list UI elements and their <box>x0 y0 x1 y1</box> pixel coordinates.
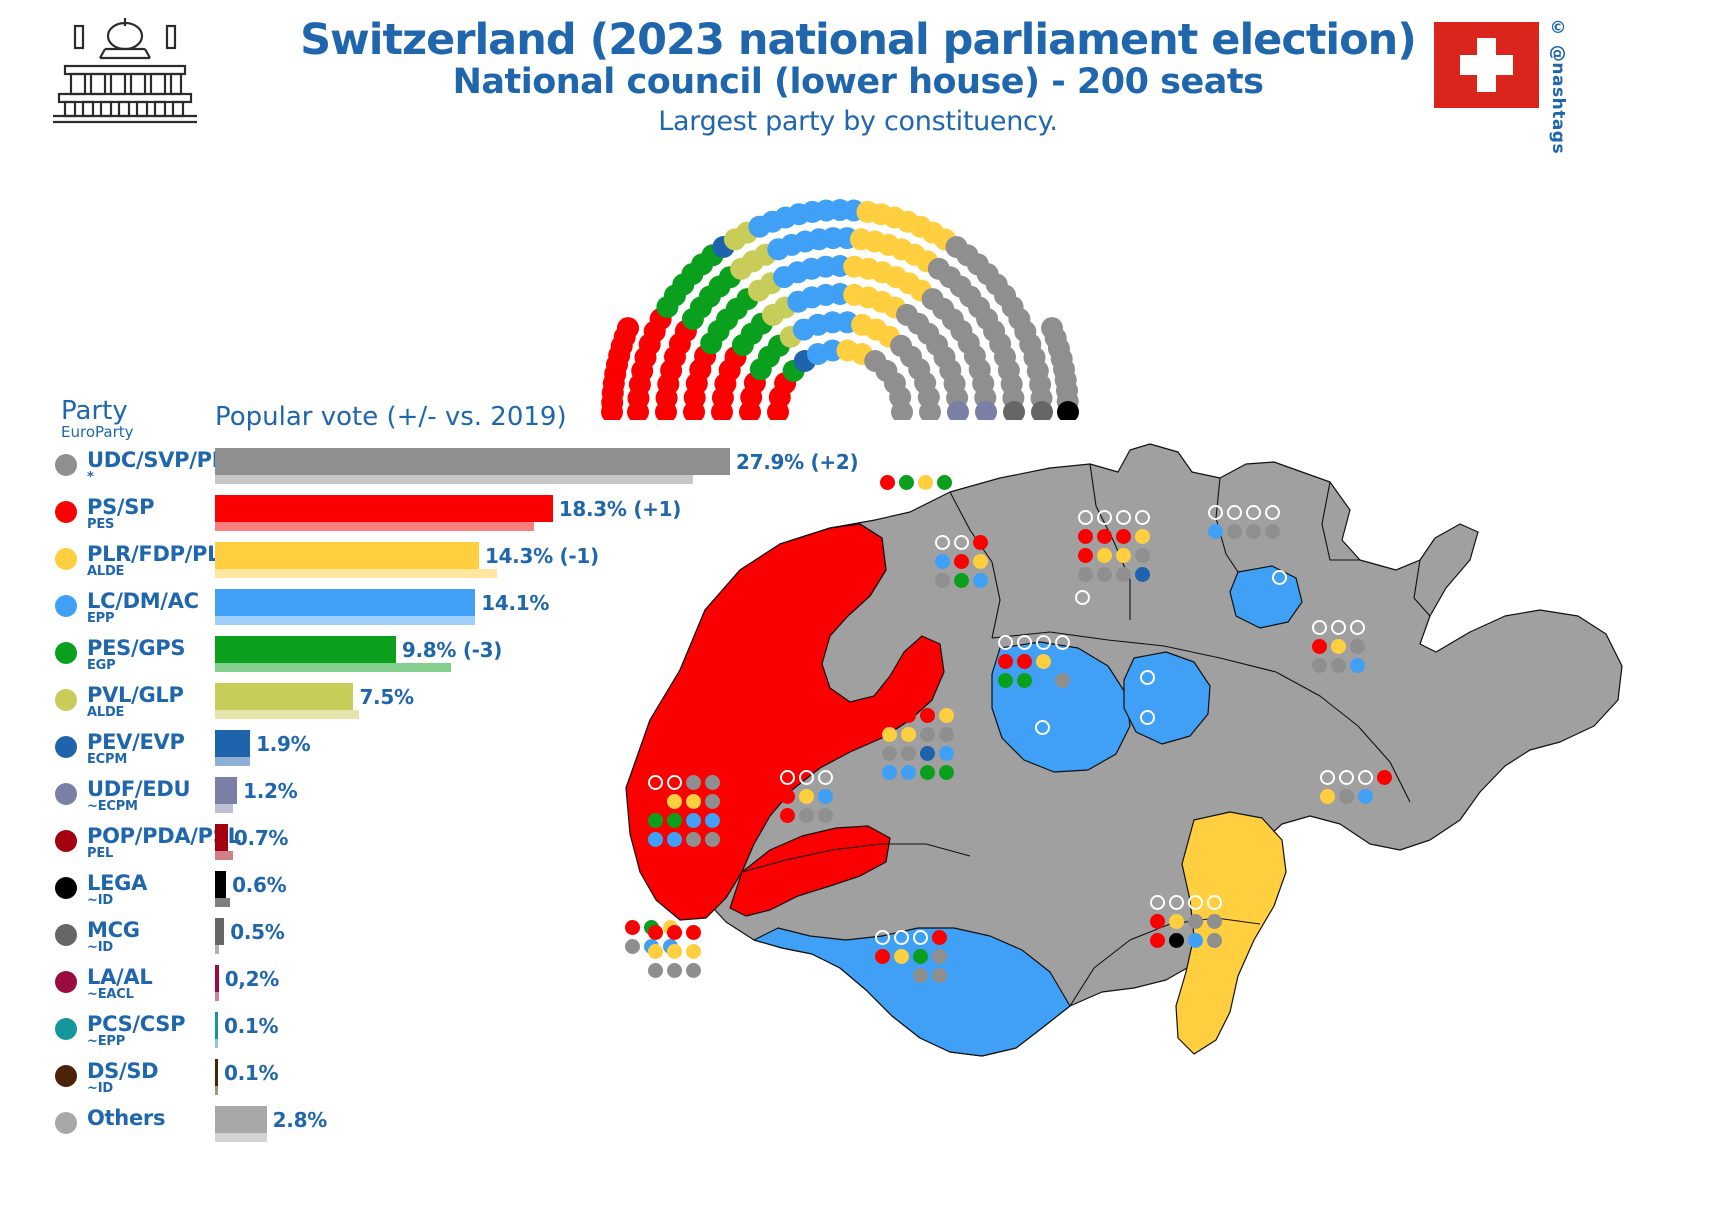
map-seat-dot <box>913 949 928 964</box>
vote-bar-previous <box>215 1133 267 1142</box>
map-seat-dot <box>1320 789 1335 804</box>
vote-bar-previous <box>215 992 219 1001</box>
vote-bar-current <box>215 495 553 522</box>
map-seat-dot <box>1227 505 1242 520</box>
party-name: PS/SP <box>87 495 154 519</box>
map-seat-dot <box>1350 639 1365 654</box>
map-seat-dot <box>648 832 663 847</box>
europarty-name: EGP <box>87 658 115 673</box>
map-seat-dot <box>939 727 954 742</box>
europarty-name: ECPM <box>87 752 127 767</box>
party-color-swatch <box>55 971 77 993</box>
map-seat-dot <box>1150 895 1165 910</box>
map-seat-dot <box>1017 673 1032 688</box>
map-seat-dot <box>799 789 814 804</box>
map-seat-dot <box>818 789 833 804</box>
map-seat-dot <box>1017 654 1032 669</box>
map-seat-dot <box>932 930 947 945</box>
map-seat-dot <box>1208 505 1223 520</box>
map-seat-dot <box>998 654 1013 669</box>
map-seat-dot <box>935 554 950 569</box>
map-seat-dot <box>648 963 663 978</box>
map-seat-dot <box>939 746 954 761</box>
vote-value-label: 1.2% <box>243 779 297 803</box>
map-seat-dot <box>705 775 720 790</box>
vote-bar-current <box>215 683 353 710</box>
map-seat-dot <box>935 535 950 550</box>
page-caption: Largest party by constituency. <box>0 106 1716 137</box>
map-seat-dot <box>1078 510 1093 525</box>
party-color-swatch <box>55 830 77 852</box>
map-seat-dot <box>686 832 701 847</box>
map-seat-dot <box>648 775 663 790</box>
vote-bar-previous <box>215 1086 218 1095</box>
vote-bar-previous <box>215 898 230 907</box>
map-seat-dot <box>894 930 909 945</box>
map-seat-dot <box>1312 658 1327 673</box>
map-seat-dot <box>913 930 928 945</box>
map-seat-dot <box>1331 658 1346 673</box>
map-seat-dot <box>1036 673 1051 688</box>
map-seat-dot <box>1116 529 1131 544</box>
vote-bar-previous <box>215 804 233 813</box>
map-seat-dot <box>686 963 701 978</box>
vote-bar-current <box>215 1106 267 1133</box>
map-seat-dot <box>1358 770 1373 785</box>
map-seat-dot <box>1078 567 1093 582</box>
map-seat-dot <box>1078 529 1093 544</box>
map-seat-dot <box>667 813 682 828</box>
map-seat-dot <box>954 573 969 588</box>
party-color-swatch <box>55 548 77 570</box>
vote-bar-current <box>215 777 237 804</box>
map-seat-dot <box>625 920 640 935</box>
map-seat-dot <box>875 949 890 964</box>
vote-value-label: 0,2% <box>225 967 279 991</box>
vote-bar-current <box>215 1059 218 1086</box>
map-seat-dot <box>1055 673 1070 688</box>
map-seat-dot <box>1097 510 1112 525</box>
switzerland-map <box>530 420 1710 1160</box>
map-seat-dot <box>1135 567 1150 582</box>
vote-value-label: 1.9% <box>256 732 310 756</box>
party-color-swatch <box>55 454 77 476</box>
map-seat-dot <box>937 475 952 490</box>
party-color-swatch <box>55 877 77 899</box>
map-seat-dot <box>954 554 969 569</box>
vote-value-label: 7.5% <box>359 685 413 709</box>
map-seat-dot <box>625 939 640 954</box>
party-color-swatch <box>55 783 77 805</box>
party-name: MCG <box>87 918 140 942</box>
map-seat-dot <box>1312 620 1327 635</box>
europarty-name: EPP <box>87 611 114 626</box>
map-seat-dot <box>1358 789 1373 804</box>
europarty-name: ~ID <box>87 1081 113 1096</box>
europarty-name: PEL <box>87 846 113 861</box>
vote-bar-previous <box>215 616 475 625</box>
vote-bar-previous <box>215 945 219 954</box>
map-seat-dot <box>1350 658 1365 673</box>
map-seat-dot <box>932 949 947 964</box>
europarty-name: ~EPP <box>87 1034 125 1049</box>
map-seat-dot <box>882 727 897 742</box>
map-seat-dot <box>1377 770 1392 785</box>
map-seat-dot <box>1188 914 1203 929</box>
map-seat-dot <box>894 968 909 983</box>
map-seat-dot <box>973 554 988 569</box>
party-color-swatch <box>55 642 77 664</box>
map-seat-dot <box>875 930 890 945</box>
map-seat-dot <box>1135 510 1150 525</box>
map-seat-dot <box>1035 720 1050 735</box>
map-seat-dot <box>667 832 682 847</box>
map-seat-dot <box>705 794 720 809</box>
map-seat-dot <box>1017 635 1032 650</box>
europarty-name: ALDE <box>87 705 124 720</box>
map-seat-dot <box>918 475 933 490</box>
map-seat-dot <box>875 968 890 983</box>
map-seat-dot <box>780 770 795 785</box>
map-seat-dot <box>1075 590 1090 605</box>
party-name: LA/AL <box>87 965 152 989</box>
map-seat-dot <box>901 727 916 742</box>
map-seat-dot <box>1265 524 1280 539</box>
map-seat-dot <box>1116 548 1131 563</box>
party-name: LEGA <box>87 871 147 895</box>
map-seat-dot <box>913 968 928 983</box>
europarty-name: PES <box>87 517 114 532</box>
vote-bar-current <box>215 918 224 945</box>
europarty-name: ALDE <box>87 564 124 579</box>
map-seat-dot <box>1036 635 1051 650</box>
map-seat-dot <box>901 708 916 723</box>
map-seat-dot <box>1331 639 1346 654</box>
europarty-column-header: EuroParty <box>61 423 134 441</box>
map-seat-dot <box>667 794 682 809</box>
vote-column-header: Popular vote (+/- vs. 2019) <box>215 402 567 432</box>
vote-value-label: 2.8% <box>273 1108 327 1132</box>
party-color-swatch <box>55 736 77 758</box>
map-seat-dot <box>880 475 895 490</box>
map-seat-dot <box>901 746 916 761</box>
credit-text: © @nashtags <box>1548 18 1568 154</box>
party-name: PEV/EVP <box>87 730 185 754</box>
map-seat-dot <box>780 789 795 804</box>
vote-value-label: 9.8% (-3) <box>402 638 502 662</box>
map-seat-dot <box>818 808 833 823</box>
map-seat-dot <box>1097 529 1112 544</box>
map-seat-dot <box>1188 933 1203 948</box>
map-seat-dot <box>1140 710 1155 725</box>
vote-bar-previous <box>215 522 534 531</box>
party-name: LC/DM/AC <box>87 589 199 613</box>
map-seat-dot <box>1350 620 1365 635</box>
party-color-swatch <box>55 1065 77 1087</box>
map-seat-dot <box>1339 789 1354 804</box>
map-seat-dot <box>920 727 935 742</box>
vote-bar-previous <box>215 1039 218 1048</box>
party-name: PVL/GLP <box>87 683 184 707</box>
map-seat-dot <box>1150 933 1165 948</box>
map-seat-dot <box>1265 505 1280 520</box>
vote-value-label: 0.1% <box>224 1014 278 1038</box>
vote-bar-previous <box>215 569 497 578</box>
map-seat-dot <box>799 808 814 823</box>
map-seat-dot <box>882 708 897 723</box>
map-seat-dot <box>939 765 954 780</box>
party-color-swatch <box>55 501 77 523</box>
vote-bar-current <box>215 1012 218 1039</box>
map-seat-dot <box>899 475 914 490</box>
map-seat-dot <box>705 813 720 828</box>
map-seat-dot <box>1312 639 1327 654</box>
map-seat-dot <box>973 535 988 550</box>
vote-bar-current <box>215 730 250 757</box>
party-color-swatch <box>55 689 77 711</box>
vote-value-label: 0.1% <box>224 1061 278 1085</box>
map-seat-dot <box>1169 895 1184 910</box>
map-seat-dot <box>648 813 663 828</box>
vote-bar-previous <box>215 663 451 672</box>
map-seat-dot <box>648 925 663 940</box>
party-color-swatch <box>55 595 77 617</box>
swiss-flag-icon <box>1434 22 1539 108</box>
vote-bar-current <box>215 542 479 569</box>
vote-bar-previous <box>215 851 233 860</box>
map-seat-dot <box>667 963 682 978</box>
map-seat-dot <box>1227 524 1242 539</box>
europarty-name: * <box>87 470 94 485</box>
map-seat-dot <box>648 944 663 959</box>
map-seat-dot <box>667 775 682 790</box>
map-seat-dot <box>1207 895 1222 910</box>
party-name: PCS/CSP <box>87 1012 185 1036</box>
map-seat-dot <box>1207 914 1222 929</box>
map-seat-dot <box>1135 548 1150 563</box>
map-seat-dot <box>932 968 947 983</box>
map-seat-dot <box>1036 654 1051 669</box>
map-seat-dot <box>1320 770 1335 785</box>
vote-bar-current <box>215 824 228 851</box>
map-seat-dot <box>686 813 701 828</box>
europarty-name: ~EACL <box>87 987 134 1002</box>
map-seat-dot <box>1207 933 1222 948</box>
map-seat-dot <box>1339 770 1354 785</box>
party-name: PES/GPS <box>87 636 185 660</box>
map-seat-dot <box>799 770 814 785</box>
map-seat-dot <box>973 573 988 588</box>
parliament-seat-arc <box>600 180 1080 420</box>
map-seat-dot <box>686 944 701 959</box>
map-seat-dot <box>1246 524 1261 539</box>
map-seat-dot <box>686 794 701 809</box>
map-seat-dot <box>667 925 682 940</box>
map-seat-dot <box>1169 914 1184 929</box>
map-seat-dot <box>1116 567 1131 582</box>
vote-bar-previous <box>215 757 250 766</box>
vote-bar-current <box>215 965 219 992</box>
map-seat-dot <box>998 635 1013 650</box>
parliament-seat-dot <box>617 317 639 339</box>
party-name: DS/SD <box>87 1059 158 1083</box>
map-seat-dot <box>686 925 701 940</box>
map-seat-dot <box>1055 635 1070 650</box>
map-seat-dot <box>954 535 969 550</box>
map-seat-dot <box>1150 914 1165 929</box>
europarty-name: ~ECPM <box>87 799 138 814</box>
map-seat-dot <box>780 808 795 823</box>
map-seat-dot <box>1208 524 1223 539</box>
europarty-name: ~ID <box>87 940 113 955</box>
map-seat-dot <box>1140 670 1155 685</box>
party-color-swatch <box>55 924 77 946</box>
map-seat-dot <box>920 708 935 723</box>
flag-cross-horizontal <box>1460 55 1513 75</box>
map-seat-dot <box>882 746 897 761</box>
map-seat-dot <box>882 765 897 780</box>
map-seat-dot <box>686 775 701 790</box>
map-seat-dot <box>1246 505 1261 520</box>
vote-bar-current <box>215 636 396 663</box>
map-seat-dot <box>648 794 663 809</box>
vote-value-label: 0.6% <box>232 873 286 897</box>
map-seat-dot <box>998 673 1013 688</box>
vote-value-label: 0.5% <box>230 920 284 944</box>
map-seat-dot <box>939 708 954 723</box>
party-column-header: Party <box>61 398 128 424</box>
party-name: UDF/EDU <box>87 777 190 801</box>
map-seat-dot <box>1097 567 1112 582</box>
map-seat-dot <box>894 949 909 964</box>
party-name: Others <box>87 1106 165 1130</box>
map-seat-dot <box>1331 620 1346 635</box>
europarty-name: ~ID <box>87 893 113 908</box>
map-seat-dot <box>1169 933 1184 948</box>
map-seat-dot <box>1097 548 1112 563</box>
vote-bar-previous <box>215 710 359 719</box>
map-seat-dot <box>1055 654 1070 669</box>
map-seat-dot <box>1188 895 1203 910</box>
vote-bar-current <box>215 871 226 898</box>
map-seat-dot <box>1116 510 1131 525</box>
map-seat-dot <box>667 944 682 959</box>
party-color-swatch <box>55 1112 77 1134</box>
map-seat-dot <box>920 765 935 780</box>
vote-bar-current <box>215 589 475 616</box>
map-seat-dot <box>1078 548 1093 563</box>
map-seat-dot <box>705 832 720 847</box>
map-seat-dot <box>818 770 833 785</box>
map-seat-dot <box>920 746 935 761</box>
party-color-swatch <box>55 1018 77 1040</box>
map-seat-dot <box>901 765 916 780</box>
map-seat-dot <box>935 573 950 588</box>
map-seat-dot <box>1272 570 1287 585</box>
vote-value-label: 0.7% <box>234 826 288 850</box>
map-seat-dot <box>1135 529 1150 544</box>
